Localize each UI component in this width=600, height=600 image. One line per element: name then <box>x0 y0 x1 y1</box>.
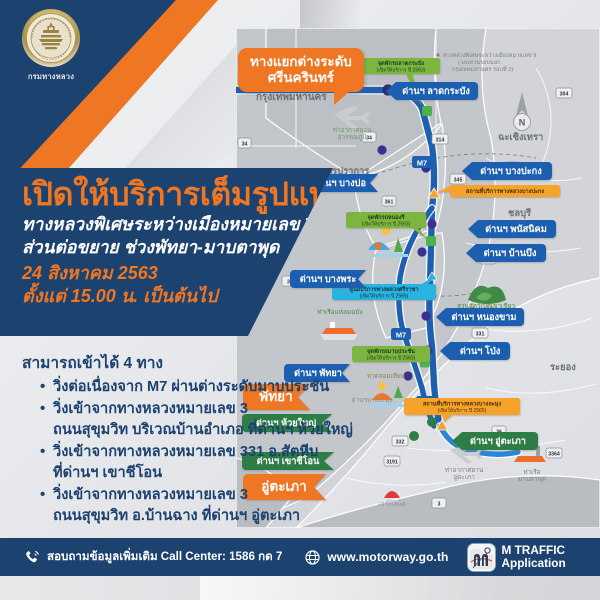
svg-text:สุวรรณภูมิ: สุวรรณภูมิ <box>338 133 367 141</box>
access-item-line1: วิ่งเข้าจากทางหลวงหมายเลข 3 <box>53 487 248 503</box>
callout-line2: ศรีนครินทร์ <box>250 70 352 86</box>
svg-text:(เปิดให้บริการ ปี 2565): (เปิดให้บริการ ปี 2565) <box>438 407 487 414</box>
svg-text:จุดพักรถหนองรี: จุดพักรถหนองรี <box>368 214 405 221</box>
svg-text:ด่านฯ บ้านบึง: ด่านฯ บ้านบึง <box>484 248 537 258</box>
callout-line1: ทางแยกต่างระดับ <box>250 54 352 70</box>
svg-text:สถานที่บริการทางหลวงบางละมุง: สถานที่บริการทางหลวงบางละมุง <box>423 399 502 407</box>
app-name-line2: Application <box>501 557 565 570</box>
toll-gate-label-nongkham: ด่านฯ หนองขาม <box>436 308 524 326</box>
svg-text:34: 34 <box>366 135 372 141</box>
access-item-line1: วิ่งเข้าจากทางหลวงหมายเลข 331 อ.สัตหีบ <box>53 444 318 460</box>
svg-text:ด่านฯ หนองขาม: ด่านฯ หนองขาม <box>452 312 517 322</box>
toll-gate-label-utapao: ด่านฯ อู่ตะเภา <box>452 432 538 450</box>
access-item-line2: ถนนสุขุมวิท อ.บ้านฉาง ที่ด่านฯ อู่ตะเภา <box>53 506 422 527</box>
website-url[interactable]: www.motorway.go.th <box>327 550 448 564</box>
m-traffic-app-block[interactable]: M TRAFFIC Application <box>468 544 565 571</box>
svg-text:ชลบุรี: ชลบุรี <box>508 207 532 219</box>
svg-text:ด่านฯ บางพระ: ด่านฯ บางพระ <box>300 274 357 284</box>
footer-bottom-strip <box>0 576 600 600</box>
svg-text:M7: M7 <box>417 158 427 167</box>
svg-text:ด่านฯ พนัสนิคม: ด่านฯ พนัสนิคม <box>485 224 547 234</box>
svg-text:ทางหลวงพิเศษระหว่างเมืองหมายเล: ทางหลวงพิเศษระหว่างเมืองหมายเลข 9 <box>443 52 536 59</box>
svg-text:(เปิดให้บริการ ปี 2563): (เปิดให้บริการ ปี 2563) <box>377 67 426 74</box>
svg-text:จุดพักรถลาดกระบัง: จุดพักรถลาดกระบัง <box>378 60 425 67</box>
svg-text:ฉะเชิงเทรา: ฉะเชิงเทรา <box>498 131 543 142</box>
svg-text:331: 331 <box>476 331 485 337</box>
access-item-line2: ที่ด่านฯ เขาชีโอน <box>53 463 422 484</box>
svg-text:304: 304 <box>560 91 569 97</box>
svg-text:345: 345 <box>454 177 463 183</box>
callout-tail <box>334 91 350 105</box>
svg-text:ระยอง: ระยอง <box>550 361 576 372</box>
toll-gate-label-bangpakong: ด่านฯ บางปะกง <box>462 162 552 180</box>
svg-text:314: 314 <box>436 137 445 143</box>
globe-icon <box>304 549 321 566</box>
svg-text:ด่านฯ อู่ตะเภา: ด่านฯ อู่ตะเภา <box>470 436 526 447</box>
svg-text:อู่ตะเภา: อู่ตะเภา <box>453 474 474 481</box>
website-block[interactable]: www.motorway.go.th <box>304 549 448 566</box>
list-item: วิ่งต่อเนื่องจาก M7 ผ่านต่างระดับมาบประช… <box>40 377 422 398</box>
svg-text:3364: 3364 <box>548 451 560 457</box>
list-item: วิ่งเข้าจากทางหลวงหมายเลข 331 อ.สัตหีบ ท… <box>40 442 422 484</box>
list-item: วิ่งเข้าจากทางหลวงหมายเลข 3 ถนนสุขุมวิท … <box>40 399 422 441</box>
access-item-line2: ถนนสุขุมวิท บริเวณบ้านอำเภอ ที่ด่านฯ ห้ว… <box>53 420 422 441</box>
agency-logo-block: กรมทางหลวง <box>14 8 88 83</box>
svg-text:ด่านฯ บางปะกง: ด่านฯ บางปะกง <box>480 166 542 176</box>
phone-ringing-icon <box>24 549 41 566</box>
footer-bottom-highlight <box>200 576 500 600</box>
svg-text:(เปิดให้บริการ ปี 2565): (เปิดให้บริการ ปี 2565) <box>360 293 409 300</box>
agency-name-label: กรมทางหลวง <box>14 71 88 83</box>
footer-bar: สอบถามข้อมูลเพิ่มเติม Call Center: 1586 … <box>0 538 600 576</box>
svg-text:3: 3 <box>287 279 290 285</box>
svg-text:ด่านฯ โป่ง: ด่านฯ โป่ง <box>460 345 501 356</box>
access-routes-section: สามารถเข้าได้ 4 ทาง วิ่งต่อเนื่องจาก M7 … <box>22 352 422 528</box>
toll-gate-label-ladkrabang: ด่านฯ ลาดกระบัง <box>386 82 478 100</box>
toll-gate-label-bangphra: ด่านฯ บางพระ <box>290 270 366 288</box>
list-item: วิ่งเข้าจากทางหลวงหมายเลข 3 ถนนสุขุมวิท … <box>40 485 422 527</box>
toll-gate-label-pong: ด่านฯ โป่ง <box>440 342 510 360</box>
svg-text:ท่าอากาศยาน: ท่าอากาศยาน <box>445 467 484 474</box>
callout-srinakarin-interchange: ทางแยกต่างระดับ ศรีนครินทร์ <box>238 48 364 105</box>
toll-gate-label-banbueng: ด่านฯ บ้านบึง <box>466 244 546 262</box>
svg-text:กรุงเทพมหานคร รอบที่ 2): กรุงเทพมหานคร รอบที่ 2) <box>452 65 513 73</box>
call-center-text: สอบถามข้อมูลเพิ่มเติม Call Center: 1586 … <box>47 548 282 566</box>
svg-text:N: N <box>519 118 526 128</box>
svg-text:ท่าเรือ: ท่าเรือ <box>523 468 540 476</box>
access-list: วิ่งต่อเนื่องจาก M7 ผ่านต่างระดับมาบประช… <box>22 377 422 527</box>
facility-label-bangpakong: สถานที่บริการทางหลวงบางปะกง <box>436 185 560 197</box>
svg-text:(เปิดให้บริการ ปี 2563): (เปิดให้บริการ ปี 2563) <box>362 221 411 228</box>
call-center-block: สอบถามข้อมูลเพิ่มเติม Call Center: 1586 … <box>24 548 282 566</box>
svg-text:M7: M7 <box>396 330 406 339</box>
svg-text:(วงแหวนรอบนอก: (วงแหวนรอบนอก <box>458 60 500 66</box>
svg-text:ท่าอากาศยาน: ท่าอากาศยาน <box>333 127 372 134</box>
infographic-poster: 304 34 34 314 315 345 361 344 3 331 332 … <box>0 0 600 600</box>
toll-gate-label-phanatnikhom: ด่านฯ พนัสนิคม <box>468 220 556 238</box>
svg-text:361: 361 <box>385 199 394 205</box>
m-traffic-app-icon <box>468 544 495 571</box>
department-of-highways-seal-icon <box>21 8 81 68</box>
svg-text:34: 34 <box>242 141 248 147</box>
svg-text:3: 3 <box>438 501 441 507</box>
access-title: สามารถเข้าได้ 4 ทาง <box>22 352 422 375</box>
access-item-line1: วิ่งต่อเนื่องจาก M7 ผ่านต่างระดับมาบประช… <box>53 379 329 395</box>
svg-text:สถานที่บริการทางหลวงบางปะกง: สถานที่บริการทางหลวงบางปะกง <box>466 187 544 195</box>
svg-text:ท่าเรือแหลมฉบัง: ท่าเรือแหลมฉบัง <box>317 308 362 316</box>
svg-text:ด่านฯ ลาดกระบัง: ด่านฯ ลาดกระบัง <box>402 86 470 96</box>
svg-text:มาบตาพุด: มาบตาพุด <box>518 476 546 483</box>
access-item-line1: วิ่งเข้าจากทางหลวงหมายเลข 3 <box>53 401 248 417</box>
